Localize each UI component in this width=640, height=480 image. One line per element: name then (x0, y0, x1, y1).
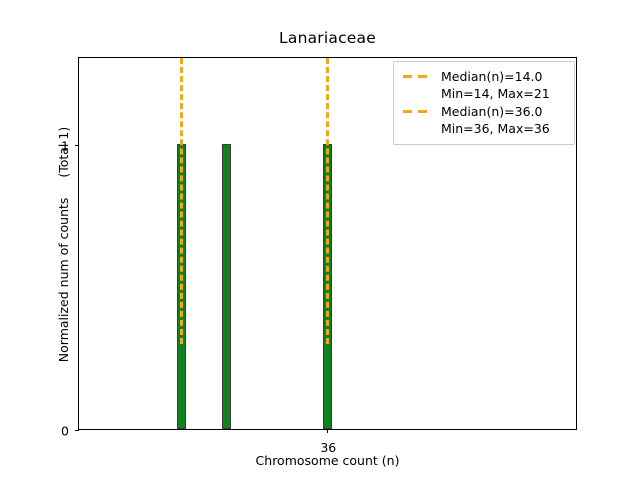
chart-figure: Lanariaceae 0 1 36 Normalized num of cou… (0, 0, 640, 480)
ytick-mark-1: 1 (75, 145, 79, 146)
legend-label-median-36: Median(n)=36.0 (441, 104, 542, 119)
legend-item-label: Median(n)=36.0 Min=36, Max=36 (441, 103, 550, 137)
page-title: Lanariaceae (78, 29, 577, 47)
legend-sublabel-minmax-14: Min=14, Max=21 (441, 85, 550, 102)
y-axis-label-gap (56, 182, 71, 194)
y-axis-label-line2: (Total 1) (56, 127, 71, 178)
legend-label-median-14: Median(n)=14.0 (441, 69, 542, 84)
median-line-36 (326, 58, 329, 344)
y-axis-label-line1: Normalized num of counts (56, 198, 71, 363)
legend-item-label: Median(n)=14.0 Min=14, Max=21 (441, 68, 550, 102)
legend-sublabel-minmax-36: Min=36, Max=36 (441, 120, 550, 137)
legend: Median(n)=14.0 Min=14, Max=21 Median(n)=… (393, 61, 575, 145)
median-line-14 (180, 58, 183, 344)
legend-item-median-14: Median(n)=14.0 Min=14, Max=21 (402, 68, 566, 102)
bar-21 (222, 144, 231, 429)
ytick-mark-0: 0 (75, 430, 79, 431)
y-axis-label: Normalized num of counts (Total 1) (56, 58, 71, 431)
dashed-line-icon (402, 104, 432, 119)
xtick-mark-36: 36 (327, 429, 328, 433)
dashed-line-icon (402, 69, 432, 84)
legend-item-median-36: Median(n)=36.0 Min=36, Max=36 (402, 103, 566, 137)
x-axis-label: Chromosome count (n) (78, 453, 577, 468)
